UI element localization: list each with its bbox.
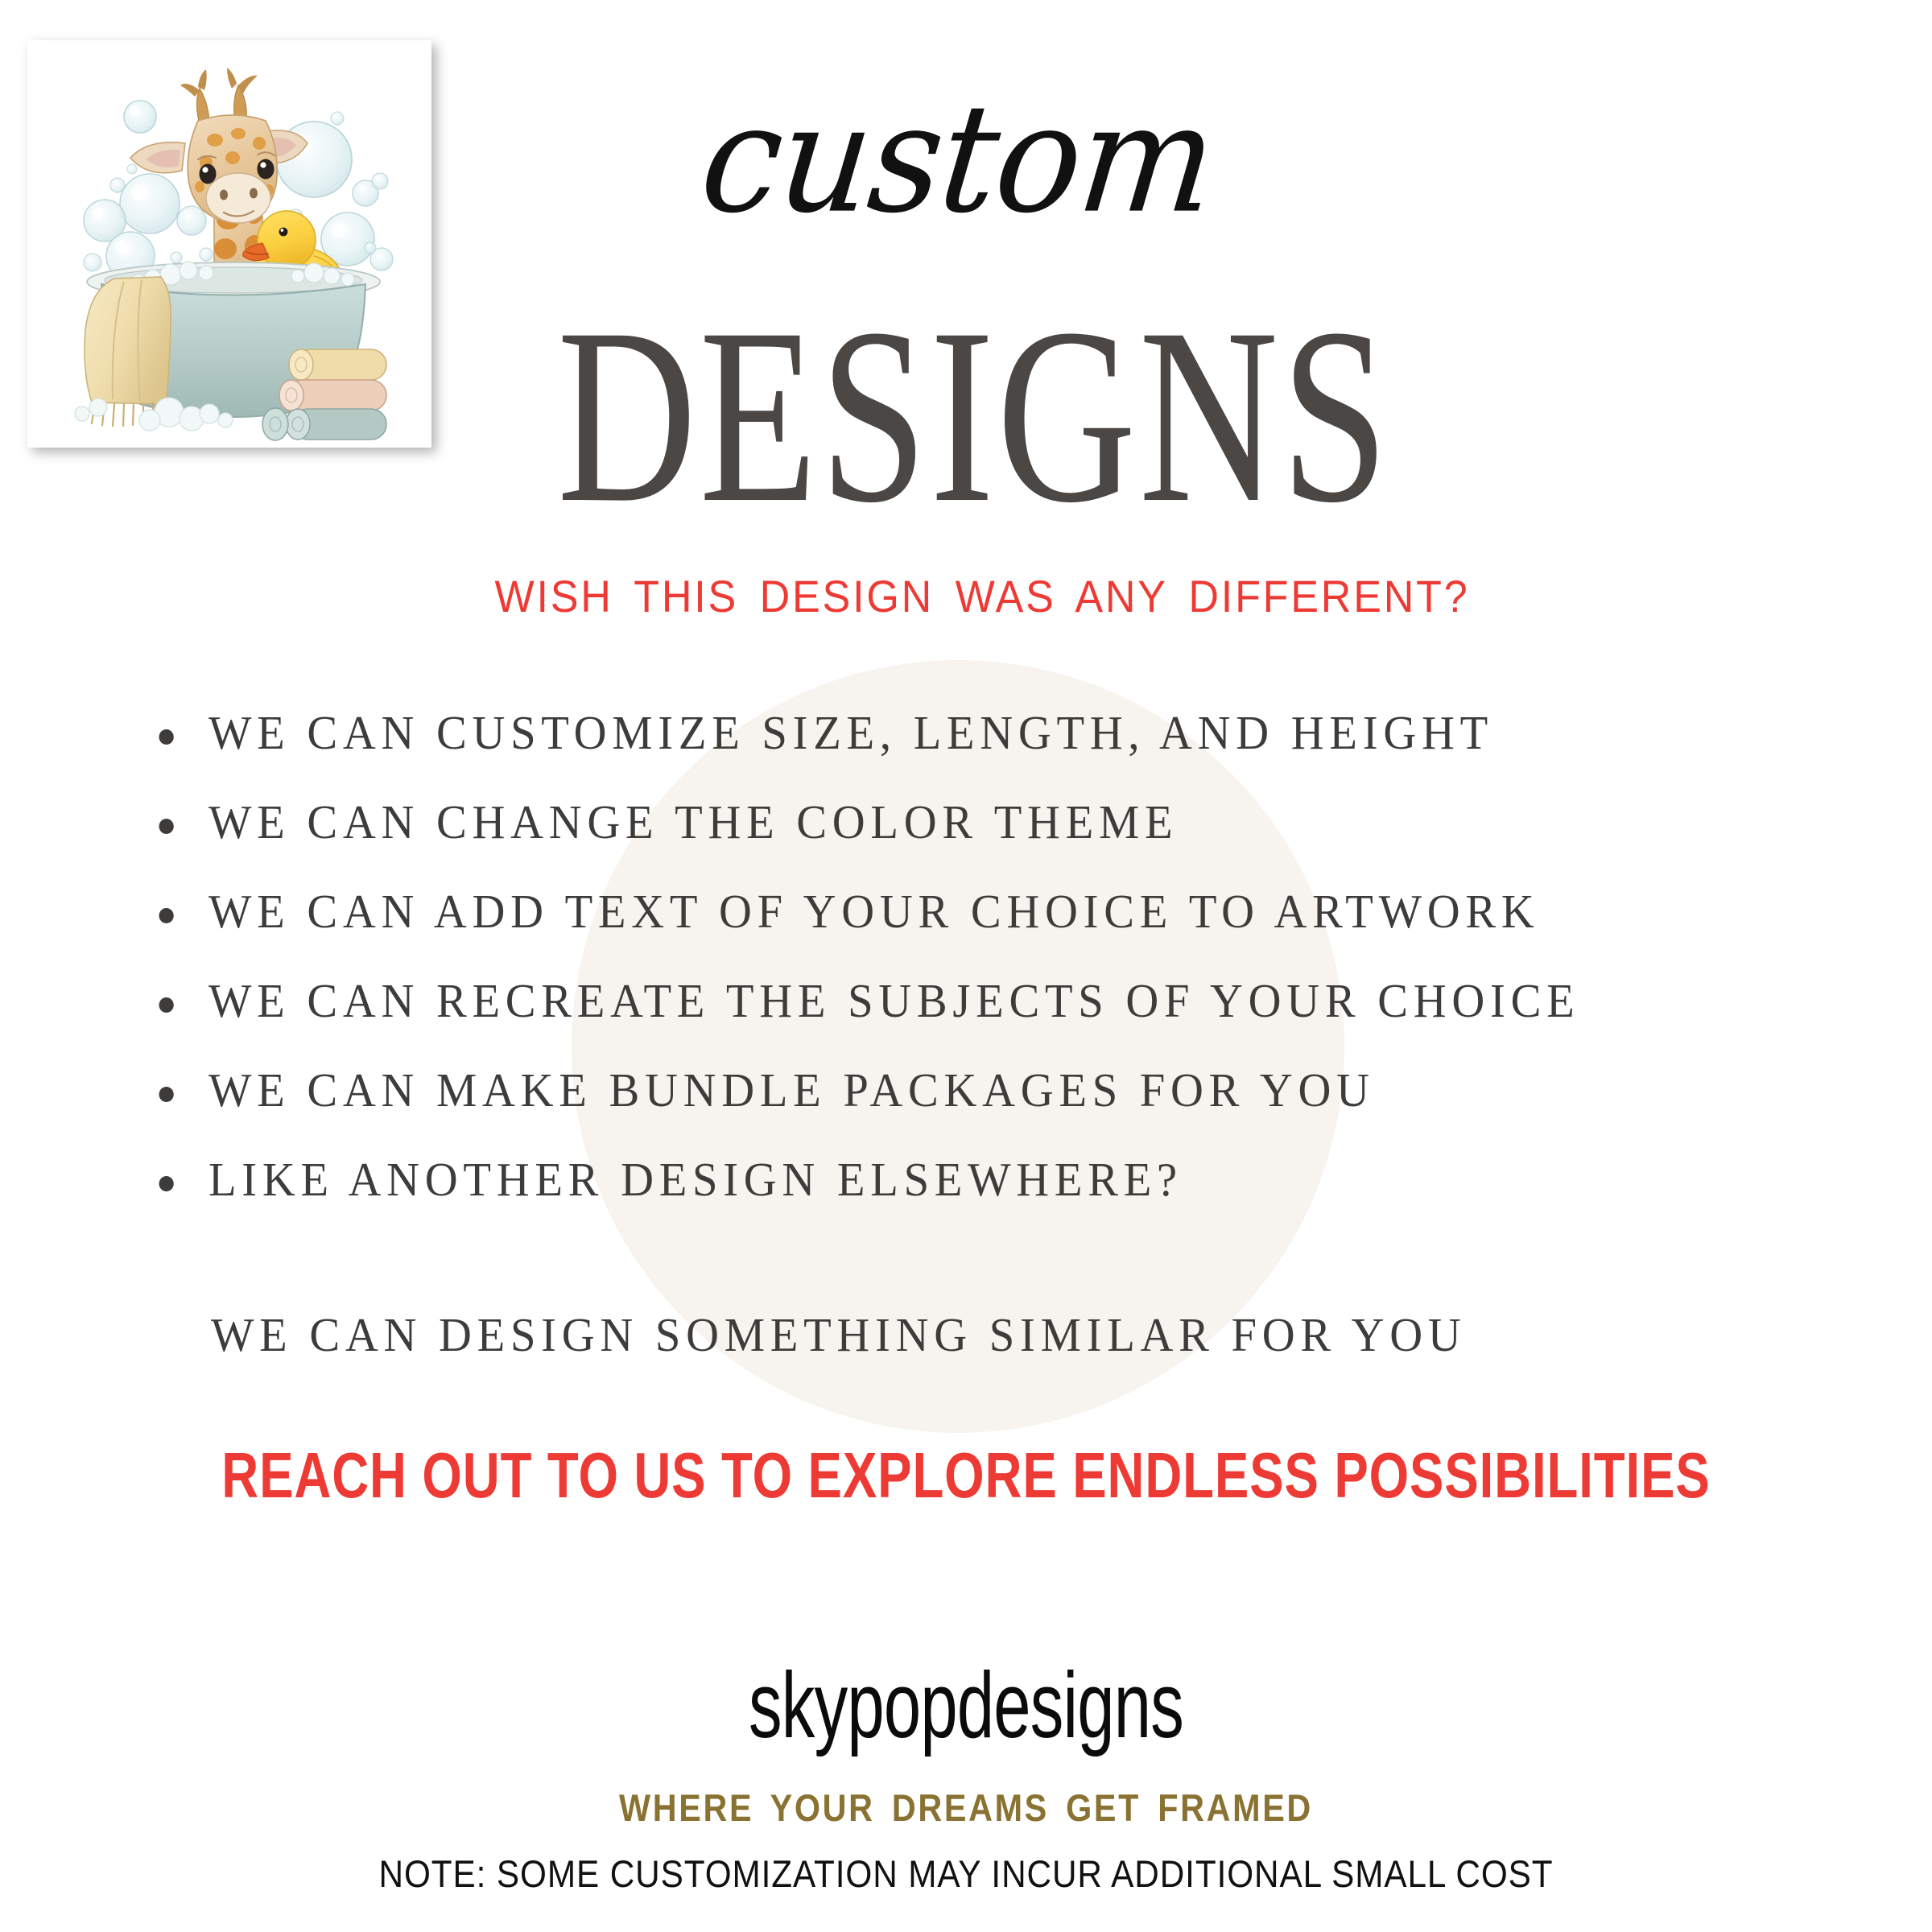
list-item: WE CAN CHANGE THE COLOR THEME	[150, 798, 1788, 848]
call-to-action-text: REACH OUT TO US TO EXPLORE ENDLESS POSSI…	[177, 1439, 1756, 1513]
list-item: LIKE ANOTHER DESIGN ELSEWHERE?	[150, 1155, 1788, 1205]
footer-note: NOTE: SOME CUSTOMIZATION MAY INCUR ADDIT…	[242, 1851, 1690, 1896]
brand-tagline: WHERE YOUR DREAMS GET FRAMED	[541, 1785, 1391, 1830]
custom-script-heading: custom	[475, 85, 1441, 235]
feature-bullet-list: WE CAN CUSTOMIZE SIZE, LENGTH, AND HEIGH…	[150, 708, 1856, 1245]
artwork-thumbnail-card[interactable]	[27, 40, 431, 448]
bullet-continuation-line: WE CAN DESIGN SOMETHING SIMILAR FOR YOU	[211, 1311, 1467, 1360]
promo-flyer: custom DESIGNS WISH THIS DESIGN WAS ANY …	[0, 0, 1932, 1932]
list-item: WE CAN ADD TEXT OF YOUR CHOICE TO ARTWOR…	[150, 887, 1788, 937]
list-item: WE CAN CUSTOMIZE SIZE, LENGTH, AND HEIGH…	[150, 708, 1788, 758]
list-item: WE CAN RECREATE THE SUBJECTS OF YOUR CHO…	[150, 976, 1788, 1026]
giraffe-bathtub-illustration	[27, 40, 431, 448]
page-title: DESIGNS	[555, 290, 1393, 541]
list-item: WE CAN MAKE BUNDLE PACKAGES FOR YOU	[150, 1066, 1788, 1116]
subtitle-question: WISH THIS DESIGN WAS ANY DIFFERENT?	[293, 570, 1670, 622]
brand-logo-text: skypopdesigns	[580, 1653, 1352, 1760]
